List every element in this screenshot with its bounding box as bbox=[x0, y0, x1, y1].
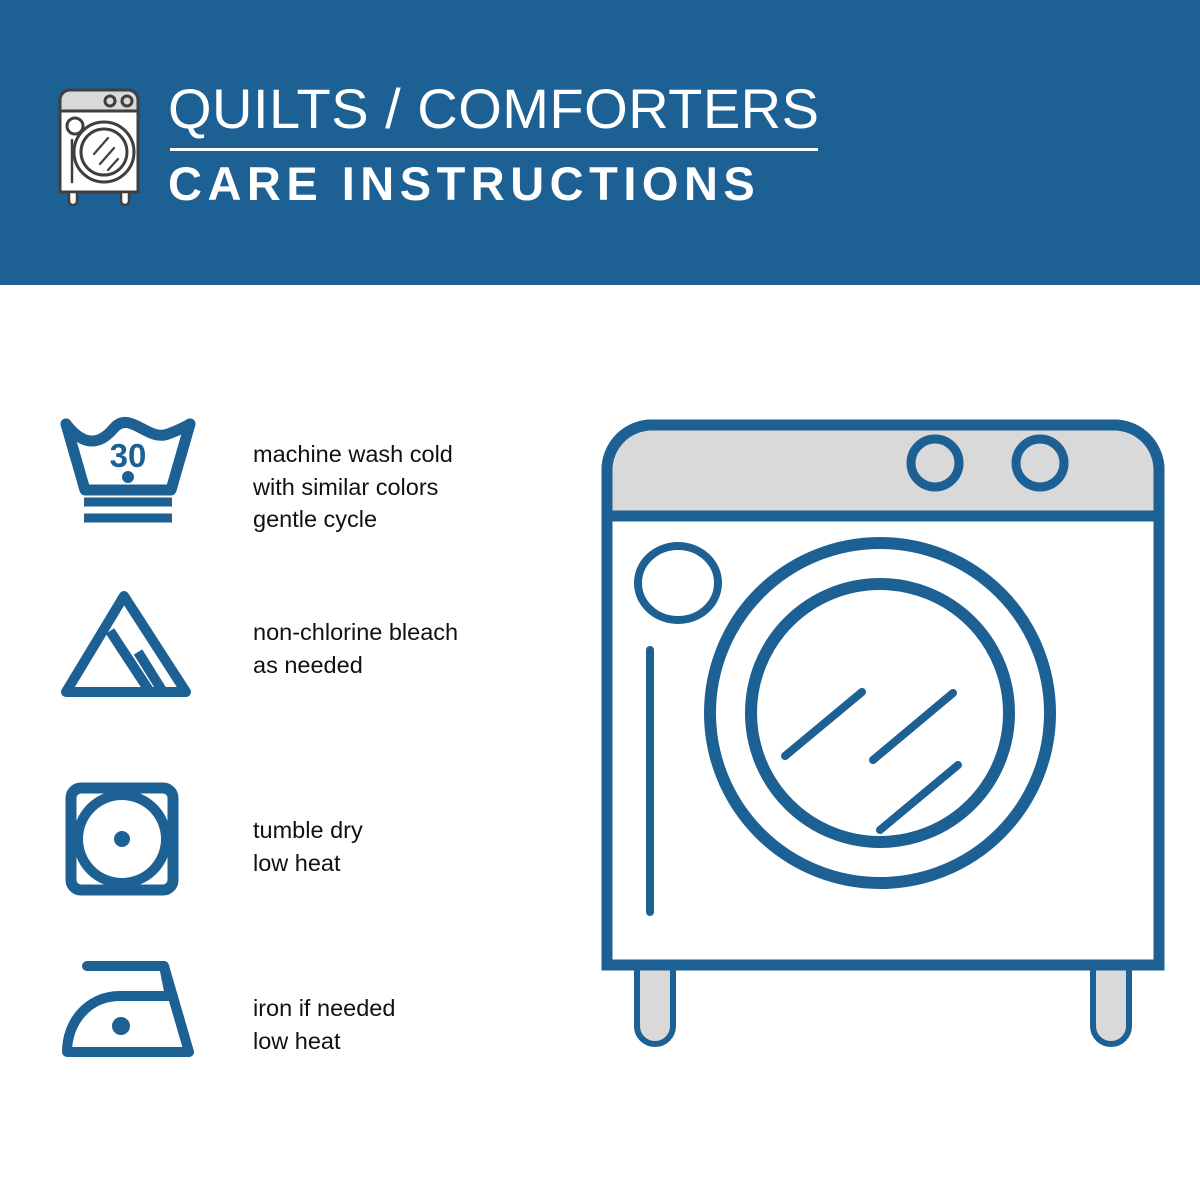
care-item-iron-label: iron if needed low heat bbox=[253, 992, 395, 1057]
machine-wash-basin-icon: 30 bbox=[58, 412, 198, 537]
tumble-dry-square-icon bbox=[58, 778, 198, 903]
page-subtitle: CARE INSTRUCTIONS bbox=[168, 157, 828, 211]
care-item-tumble-dry-label: tumble dry low heat bbox=[253, 814, 363, 879]
header-bar: QUILTS / COMFORTERS CARE INSTRUCTIONS bbox=[0, 0, 1200, 285]
care-item-wash-label: machine wash cold with similar colors ge… bbox=[253, 438, 453, 536]
washer-leg-right bbox=[1093, 960, 1129, 1044]
front-load-washing-machine-illustration bbox=[580, 400, 1200, 1120]
care-instructions-list: 30 machine wash cold with similar colors… bbox=[0, 400, 560, 1100]
header-title-block: QUILTS / COMFORTERS CARE INSTRUCTIONS bbox=[168, 78, 828, 211]
care-instructions-page: QUILTS / COMFORTERS CARE INSTRUCTIONS 30 bbox=[0, 0, 1200, 1200]
care-item-iron: iron if needed low heat bbox=[0, 952, 560, 1082]
washer-leg-left bbox=[637, 960, 673, 1044]
care-item-tumble-dry: tumble dry low heat bbox=[0, 778, 560, 908]
washer-control-panel bbox=[607, 425, 1159, 516]
washing-machine-logo-icon bbox=[52, 82, 158, 206]
care-item-bleach: non-chlorine bleach as needed bbox=[0, 584, 560, 714]
care-item-wash: 30 machine wash cold with similar colors… bbox=[0, 412, 560, 542]
page-title: QUILTS / COMFORTERS bbox=[168, 78, 828, 140]
non-chlorine-bleach-triangle-icon bbox=[58, 584, 198, 709]
title-divider bbox=[170, 148, 818, 151]
wash-temperature-label: 30 bbox=[110, 437, 147, 474]
iron-icon bbox=[58, 952, 208, 1067]
care-item-bleach-label: non-chlorine bleach as needed bbox=[253, 616, 458, 681]
